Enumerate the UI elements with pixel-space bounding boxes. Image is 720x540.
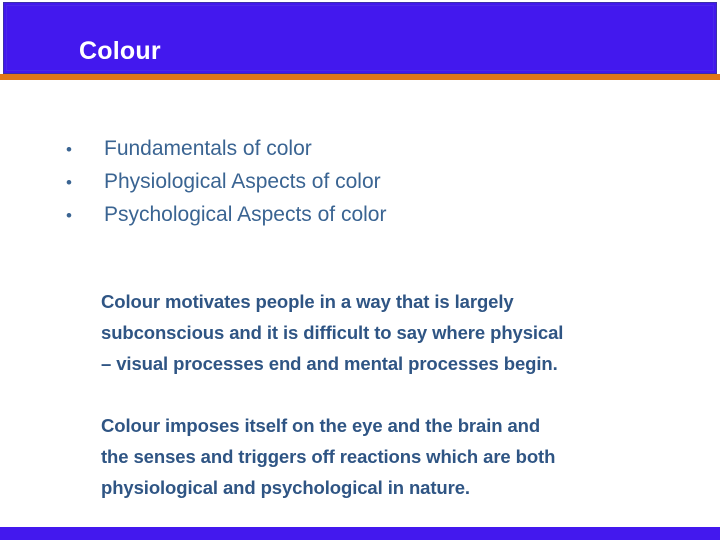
slide-footer-bar [0, 527, 720, 540]
bullet-list: • Fundamentals of color • Physiological … [66, 132, 666, 231]
bullet-dot-icon: • [66, 166, 104, 199]
body-line: – visual processes end and mental proces… [101, 348, 686, 379]
list-item-label: Fundamentals of color [104, 132, 312, 165]
list-item-label: Physiological Aspects of color [104, 165, 381, 198]
slide-header-bar: Colour [3, 2, 717, 74]
bullet-dot-icon: • [66, 199, 104, 232]
body-line: Colour motivates people in a way that is… [101, 286, 686, 317]
body-line: subconscious and it is difficult to say … [101, 317, 686, 348]
list-item: • Physiological Aspects of color [66, 165, 666, 198]
body-paragraph-1: Colour motivates people in a way that is… [101, 286, 686, 379]
list-item: • Fundamentals of color [66, 132, 666, 165]
header-accent-rule [0, 74, 720, 80]
bullet-dot-icon: • [66, 133, 104, 166]
page-title: Colour [79, 39, 161, 64]
slide: Colour • Fundamentals of color • Physiol… [0, 0, 720, 540]
list-item: • Psychological Aspects of color [66, 198, 666, 231]
list-item-label: Psychological Aspects of color [104, 198, 386, 231]
body-line: physiological and psychological in natur… [101, 472, 686, 503]
body-line: Colour imposes itself on the eye and the… [101, 410, 686, 441]
body-paragraph-2: Colour imposes itself on the eye and the… [101, 410, 686, 503]
body-text-block: Colour motivates people in a way that is… [101, 286, 686, 503]
body-line: the senses and triggers off reactions wh… [101, 441, 686, 472]
